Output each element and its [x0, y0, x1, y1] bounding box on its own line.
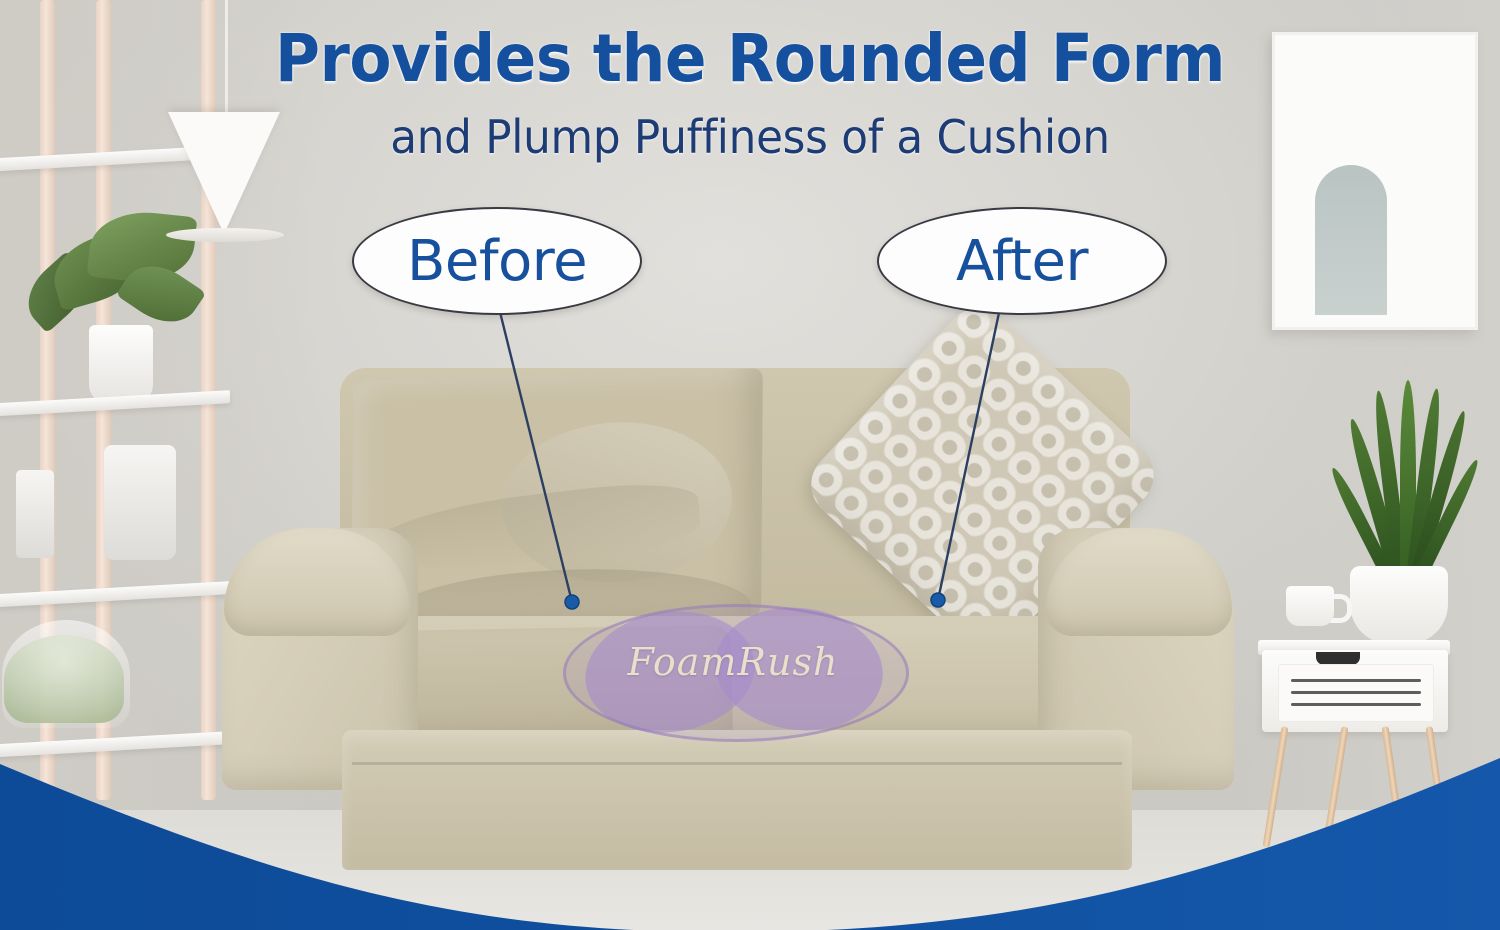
shelf-board [0, 581, 230, 608]
callout-before-label: Before [407, 229, 587, 294]
bottom-blue-wave [0, 740, 1500, 930]
plant-pot [89, 325, 153, 403]
sofa-arm-roll [224, 528, 410, 636]
glass-jar [2, 620, 130, 728]
seat-cushion-left [371, 625, 733, 747]
page-subtitle: and Plump Puffiness of a Cushion [38, 110, 1463, 164]
sofa-arm-roll [1046, 528, 1232, 636]
storage-jar [104, 445, 176, 560]
drawer-slot [1291, 703, 1421, 706]
art-arch-shape [1315, 165, 1387, 315]
callout-after-label: After [956, 229, 1088, 294]
drawer-slot [1291, 691, 1421, 694]
callout-before[interactable]: Before [352, 207, 642, 315]
page-title: Provides the Rounded Form [53, 26, 1448, 92]
product-infographic: FoamRush Before After Provides the Round… [0, 0, 1500, 930]
storage-jar [16, 470, 54, 558]
plant-pot [1350, 566, 1448, 644]
coffee-mug [1286, 586, 1334, 626]
callout-after[interactable]: After [877, 207, 1167, 315]
nightstand-drawer [1278, 664, 1434, 722]
pendant-lamp-rim [166, 228, 284, 242]
drawer-slot [1291, 679, 1421, 682]
nightstand-body [1262, 650, 1448, 732]
